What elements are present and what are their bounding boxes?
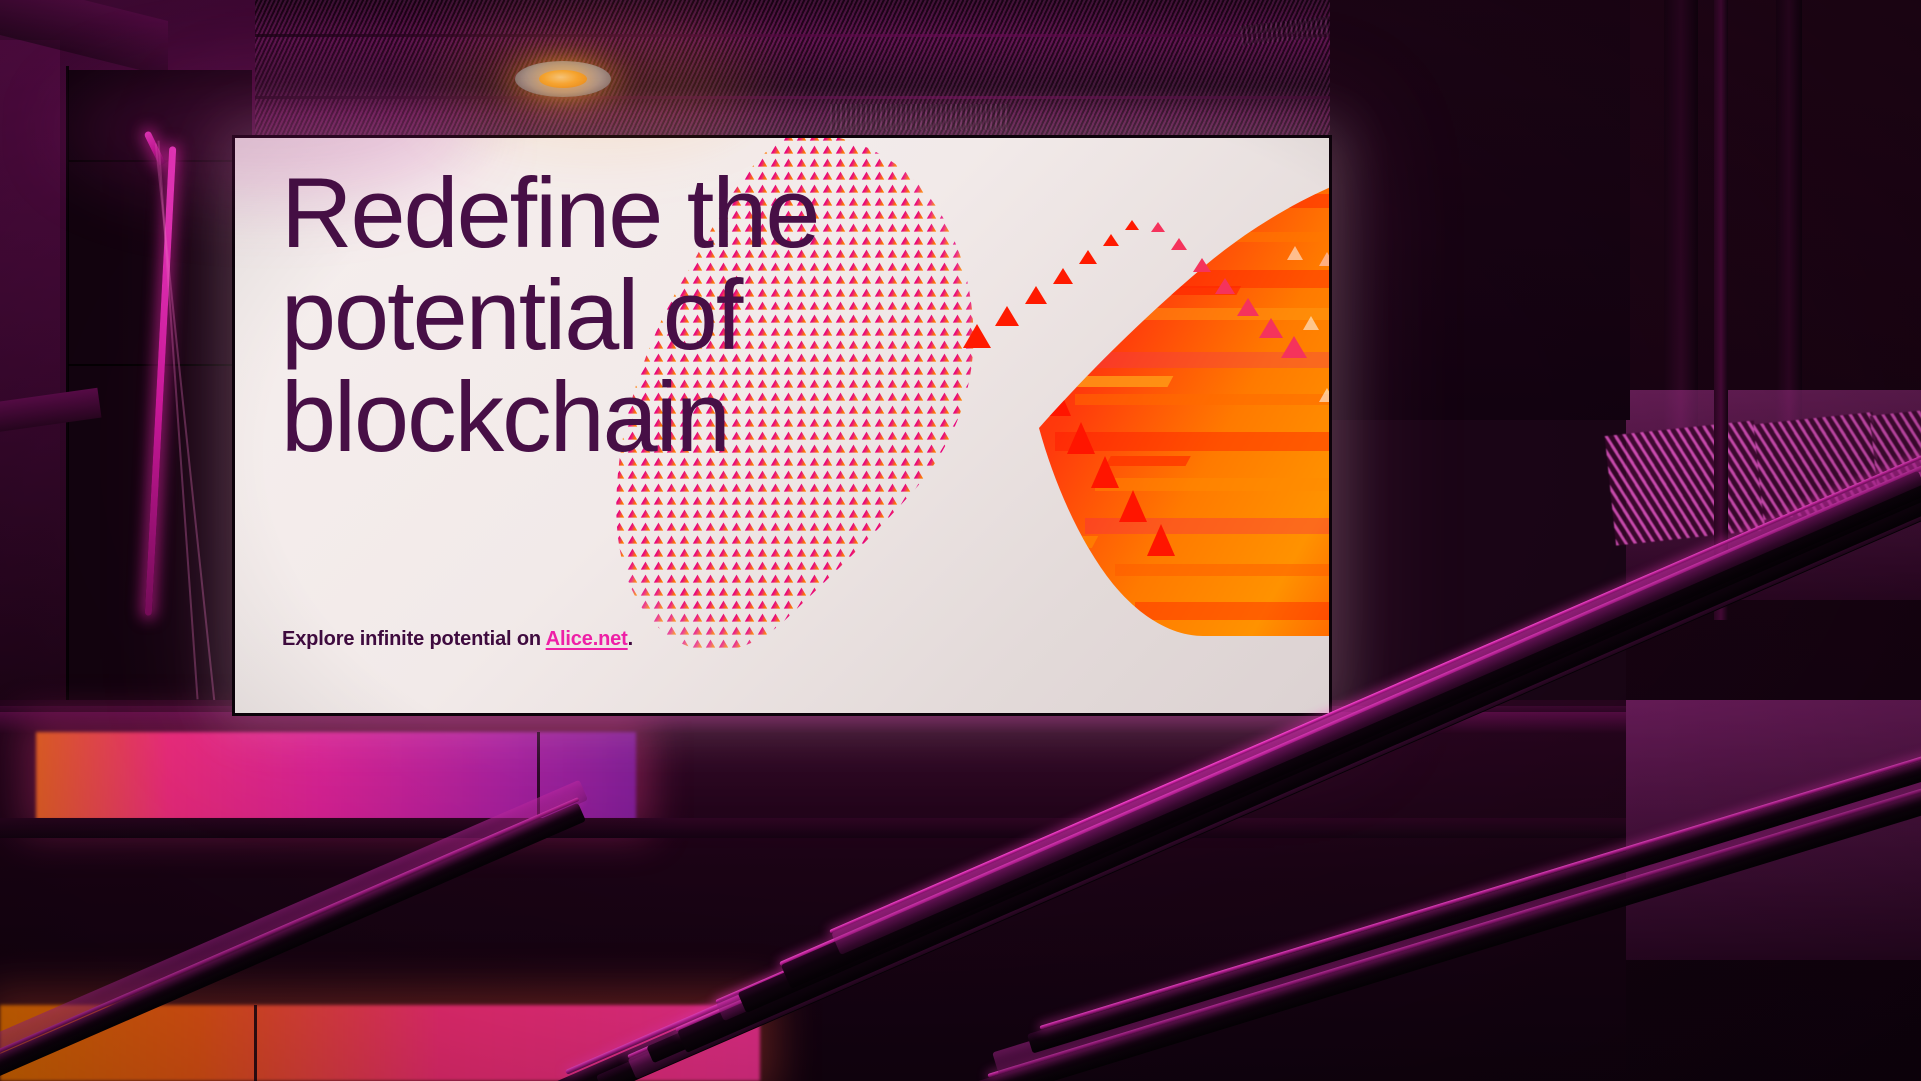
downlight-bulb: [539, 70, 587, 88]
headline-line-3: blockchain: [281, 366, 818, 468]
billboard-photo-scene: Redefine the potential of blockchain Exp…: [0, 0, 1921, 1081]
butterfly-right-wing-icon: [935, 166, 1329, 666]
background-escalator-treads: [1605, 420, 1766, 545]
alice-net-link[interactable]: Alice.net: [546, 628, 628, 650]
headline-line-2: potential of: [281, 264, 818, 366]
billboard-face: Redefine the potential of blockchain Exp…: [235, 138, 1329, 713]
billboard-tagline: Explore infinite potential on Alice.net.: [282, 628, 633, 651]
headline-line-1: Redefine the: [281, 162, 818, 264]
right-architecture: [1626, 0, 1921, 1081]
light-panel-lower: [0, 1005, 760, 1081]
tagline-prefix: Explore infinite potential on: [282, 628, 546, 650]
billboard-headline: Redefine the potential of blockchain: [281, 162, 818, 468]
billboard[interactable]: Redefine the potential of blockchain Exp…: [232, 135, 1332, 716]
light-panel-upper: [36, 732, 636, 820]
butterfly-antennae-icon: [955, 198, 1315, 428]
tagline-suffix: .: [628, 628, 633, 650]
dark-structural-column: [1330, 0, 1630, 420]
ceiling-downlight-icon: [515, 61, 611, 97]
